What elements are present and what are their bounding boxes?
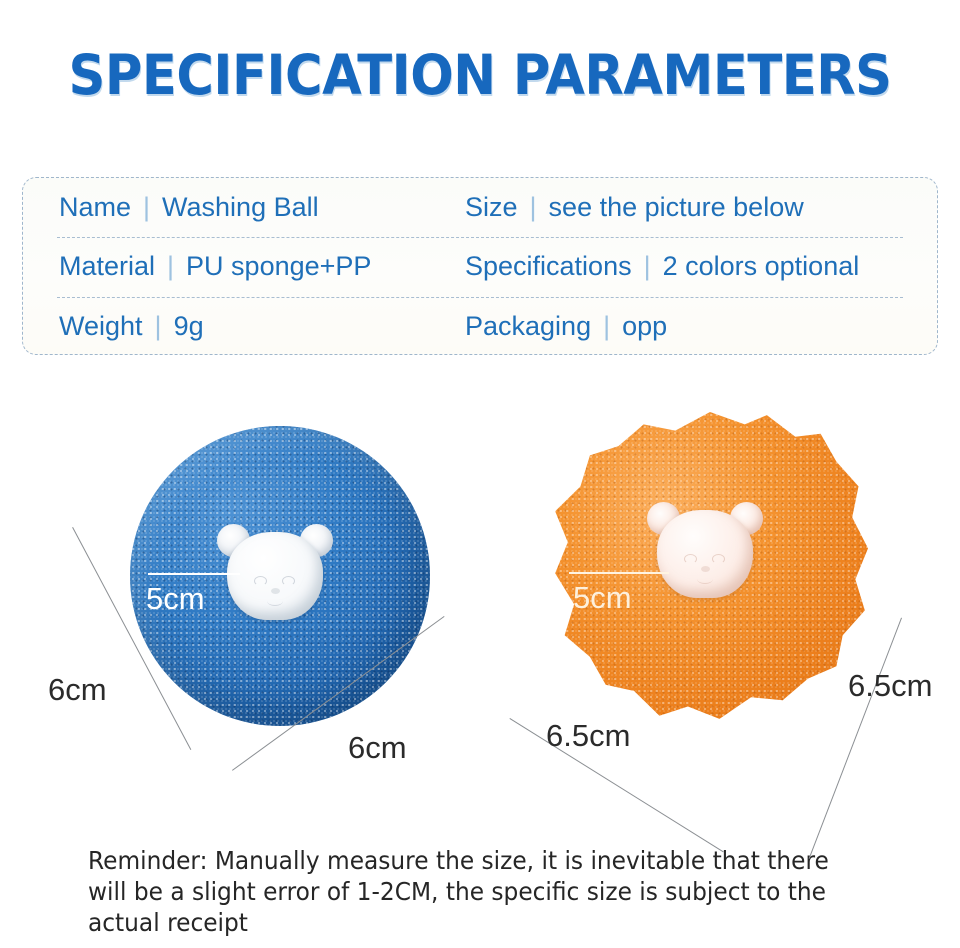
blue-dimension-label-right: 6cm bbox=[348, 730, 407, 766]
reminder-text: Reminder: Manually measure the size, it … bbox=[88, 845, 848, 938]
bear-eye-right-icon bbox=[282, 576, 295, 586]
spec-cell-name: Name | Washing Ball bbox=[59, 192, 319, 223]
spec-cell-weight: Weight | 9g bbox=[59, 311, 204, 342]
bear-head bbox=[657, 510, 753, 598]
spec-cell-packaging: Packaging | opp bbox=[465, 311, 667, 342]
orange-inner-measure-line bbox=[569, 572, 669, 574]
bear-mouth-icon bbox=[697, 574, 713, 584]
table-row: Name | Washing Ball Size | see the pictu… bbox=[23, 178, 937, 237]
orange-dimension-label-left: 6.5cm bbox=[546, 718, 630, 754]
spec-value: opp bbox=[622, 311, 667, 342]
bear-nose-icon bbox=[271, 588, 280, 594]
table-row: Material | PU sponge+PP Specifications |… bbox=[23, 237, 937, 296]
spec-cell-material: Material | PU sponge+PP bbox=[59, 251, 371, 282]
spec-separator: | bbox=[167, 251, 174, 282]
spec-value: 9g bbox=[174, 311, 204, 342]
spec-separator: | bbox=[155, 311, 162, 342]
orange-dimension-label-right: 6.5cm bbox=[848, 668, 932, 704]
spec-separator: | bbox=[530, 192, 537, 223]
bear-nose-icon bbox=[701, 566, 710, 572]
spec-value: 2 colors optional bbox=[663, 251, 860, 282]
bear-eye-left-icon bbox=[254, 576, 267, 586]
spec-cell-size: Size | see the picture below bbox=[465, 192, 804, 223]
spec-separator: | bbox=[603, 311, 610, 342]
page-title: SPECIFICATION PARAMETERS bbox=[34, 44, 927, 106]
bear-eye-right-icon bbox=[712, 554, 725, 564]
blue-inner-measure-line bbox=[148, 573, 240, 575]
spec-cell-specifications: Specifications | 2 colors optional bbox=[465, 251, 859, 282]
spec-key: Weight bbox=[59, 311, 143, 342]
blue-washing-ball-image bbox=[130, 426, 430, 726]
specification-table: Name | Washing Ball Size | see the pictu… bbox=[22, 177, 938, 355]
bear-face-icon bbox=[646, 502, 764, 602]
blue-dimension-label-left: 6cm bbox=[48, 672, 107, 708]
spec-key: Size bbox=[465, 192, 518, 223]
bear-head bbox=[227, 532, 323, 620]
product-image-area: 5cm 6cm 6cm 5cm 6.5cm 6.5cm bbox=[0, 400, 960, 820]
spec-key: Packaging bbox=[465, 311, 591, 342]
orange-washing-ball-image bbox=[552, 412, 868, 722]
spec-value: PU sponge+PP bbox=[186, 251, 371, 282]
spec-key: Material bbox=[59, 251, 155, 282]
spec-separator: | bbox=[143, 192, 150, 223]
spec-value: Washing Ball bbox=[162, 192, 319, 223]
orange-inner-measure-label: 5cm bbox=[573, 580, 632, 616]
spec-key: Name bbox=[59, 192, 131, 223]
table-row: Weight | 9g Packaging | opp bbox=[23, 297, 937, 356]
spec-key: Specifications bbox=[465, 251, 632, 282]
bear-mouth-icon bbox=[267, 596, 283, 606]
spec-value: see the picture below bbox=[549, 192, 804, 223]
bear-eye-left-icon bbox=[684, 554, 697, 564]
blue-inner-measure-label: 5cm bbox=[146, 581, 205, 617]
spec-separator: | bbox=[644, 251, 651, 282]
